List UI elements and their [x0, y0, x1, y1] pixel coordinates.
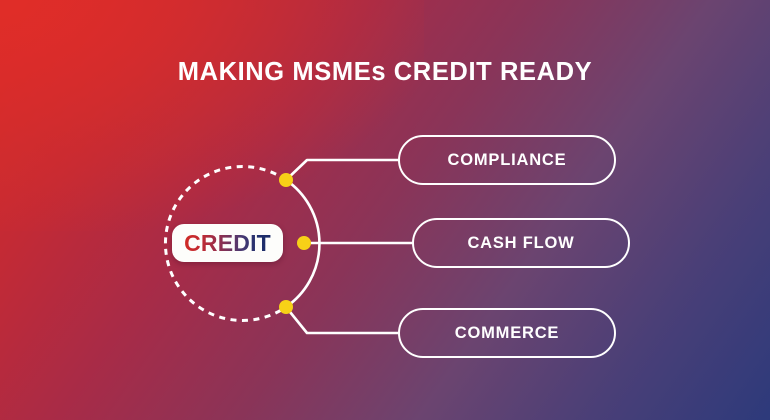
- infographic-canvas: MAKING MSMEs CREDIT READY CREDIT COMPLIA…: [0, 0, 770, 420]
- node-compliance-dot: [279, 173, 293, 187]
- credit-badge: CREDIT: [172, 224, 283, 262]
- credit-badge-label: CREDIT: [184, 230, 271, 257]
- page-title: MAKING MSMEs CREDIT READY: [0, 55, 770, 89]
- connector-compliance: [286, 160, 398, 180]
- branch-label-commerce: COMMERCE: [455, 324, 559, 343]
- node-commerce-dot: [279, 300, 293, 314]
- connector-commerce: [286, 307, 398, 333]
- branch-pill-commerce: COMMERCE: [398, 308, 616, 358]
- node-cash-flow-dot: [297, 236, 311, 250]
- branch-pill-compliance: COMPLIANCE: [398, 135, 616, 185]
- branch-label-compliance: COMPLIANCE: [448, 151, 567, 170]
- branch-label-cash-flow: CASH FLOW: [467, 234, 574, 253]
- branch-pill-cash-flow: CASH FLOW: [412, 218, 630, 268]
